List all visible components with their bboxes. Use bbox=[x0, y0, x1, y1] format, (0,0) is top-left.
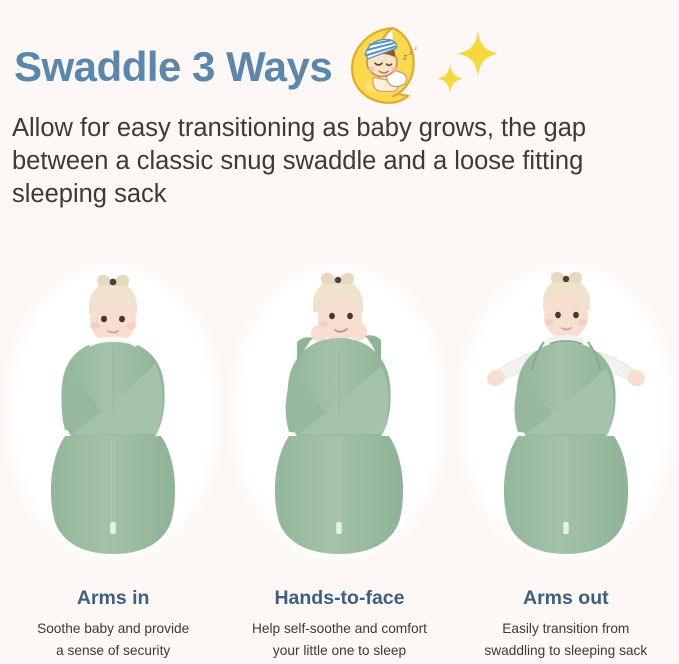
header-section: Swaddle 3 Ways z z z Allow for e bbox=[0, 0, 679, 232]
caption-line: Easily transition from bbox=[455, 618, 677, 639]
sleeping-baby-on-moon-icon: z z z bbox=[338, 21, 426, 109]
caption-line: a sense of security bbox=[2, 640, 224, 661]
baby-in-sleeping-sack-arms-out-image bbox=[466, 268, 666, 568]
sparkle-stars-icon bbox=[428, 25, 502, 99]
swaddle-mode-photo-row bbox=[0, 258, 679, 578]
photo-stage bbox=[226, 258, 452, 578]
photo-cell-arms-in bbox=[0, 258, 226, 578]
caption-line: swaddling to sleeping sack bbox=[455, 640, 677, 661]
photo-cell-arms-out bbox=[453, 258, 679, 578]
page-subtitle: Allow for easy transitioning as baby gro… bbox=[12, 112, 658, 211]
caption-desc-hands-to-face: Help self-soothe and comfort your little… bbox=[228, 618, 450, 660]
caption-title-hands-to-face: Hands-to-face bbox=[228, 588, 450, 609]
baby-swaddled-arms-in-image bbox=[13, 268, 213, 568]
caption-title-arms-out: Arms out bbox=[455, 588, 677, 609]
page-title: Swaddle 3 Ways bbox=[14, 46, 332, 88]
caption-desc-arms-out: Easily transition from swaddling to slee… bbox=[455, 618, 677, 660]
photo-stage bbox=[0, 258, 226, 578]
caption-title-arms-in: Arms in bbox=[2, 588, 224, 609]
svg-text:z: z bbox=[409, 49, 413, 56]
caption-arms-in: Arms in Soothe baby and provide a sense … bbox=[0, 588, 226, 664]
photo-stage bbox=[453, 258, 679, 578]
photo-cell-hands-to-face bbox=[226, 258, 452, 578]
swaddle-mode-caption-row: Arms in Soothe baby and provide a sense … bbox=[0, 588, 679, 664]
title-row: Swaddle 3 Ways z z z bbox=[14, 36, 502, 98]
caption-line: Soothe baby and provide bbox=[2, 618, 224, 639]
baby-swaddled-hands-to-face-image bbox=[239, 268, 439, 568]
caption-hands-to-face: Hands-to-face Help self-soothe and comfo… bbox=[226, 588, 452, 664]
caption-desc-arms-in: Soothe baby and provide a sense of secur… bbox=[2, 618, 224, 660]
svg-text:z: z bbox=[414, 47, 418, 52]
caption-arms-out: Arms out Easily transition from swaddlin… bbox=[453, 588, 679, 664]
svg-text:z: z bbox=[402, 53, 407, 62]
caption-line: Help self-soothe and comfort bbox=[228, 618, 450, 639]
caption-line: your little one to sleep bbox=[228, 640, 450, 661]
